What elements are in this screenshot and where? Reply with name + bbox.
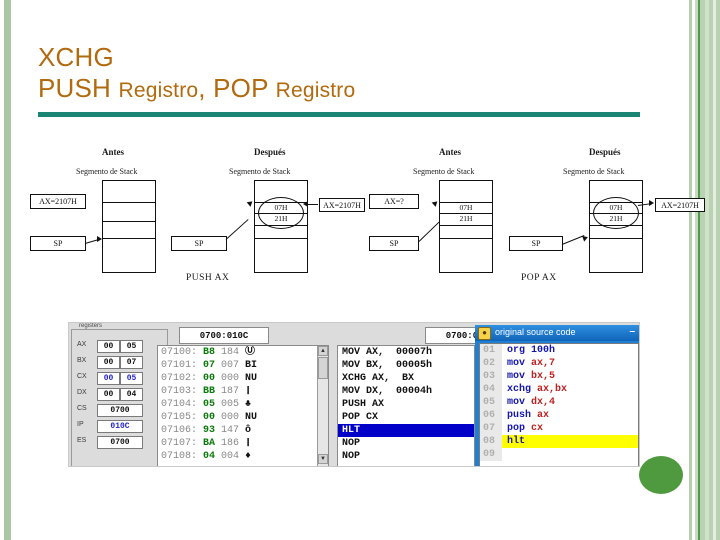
- hex-byte: 04: [203, 451, 221, 462]
- green-bullet-decoration: [639, 456, 683, 494]
- subtitle-part-registro-1: Registro: [118, 79, 198, 102]
- hex-dump-row[interactable]: 07100: B8 184 Ⓤ: [158, 346, 328, 359]
- right-stripe-10: [716, 0, 720, 540]
- source-operand: ax: [537, 410, 549, 421]
- register-row: DX0004: [69, 387, 164, 402]
- hex-char: ❙: [245, 438, 251, 449]
- register-row: AX0005: [69, 339, 164, 354]
- pop-diagram: Antes Segmento de Stack 07H 21H AX=? SP …: [361, 143, 696, 303]
- subtitle-part-push: PUSH: [38, 73, 118, 103]
- source-line-number: 02: [480, 357, 502, 370]
- source-code-row[interactable]: 06push ax: [480, 409, 638, 422]
- hex-decimal: 007: [221, 360, 245, 371]
- hex-decimal: 184: [221, 347, 245, 358]
- hex-dump-row[interactable]: 07103: BB 187 ❙: [158, 385, 328, 398]
- hex-dump-row[interactable]: 07105: 00 000 NU: [158, 411, 328, 424]
- source-code-row[interactable]: 08hlt: [480, 435, 638, 448]
- pop-before-label: Antes: [439, 147, 461, 157]
- pop-before-cell-high: 07H: [440, 203, 492, 212]
- register-value-high[interactable]: 00: [97, 340, 120, 353]
- push-after-sp-box: SP: [171, 236, 227, 251]
- pop-before-ax-box: AX=?: [369, 194, 419, 209]
- source-code-window: ● original source code – 01org 100h02mov…: [475, 325, 639, 466]
- hex-dump-panel[interactable]: 07100: B8 184 Ⓤ07101: 07 007 BI07102: 00…: [157, 345, 329, 467]
- push-after-ax-box: AX=2107H: [319, 198, 365, 212]
- source-line-code: pop cx: [502, 422, 638, 435]
- source-code-row[interactable]: 02mov ax,7: [480, 357, 638, 370]
- source-window-titlebar[interactable]: ● original source code –: [475, 325, 639, 341]
- hex-decimal: 005: [221, 399, 245, 410]
- pop-after-segment-label: Segmento de Stack: [563, 167, 624, 176]
- hex-decimal: 000: [221, 412, 245, 423]
- register-row: ES0700: [69, 435, 164, 450]
- scroll-up-icon[interactable]: ▲: [318, 346, 328, 356]
- hex-decimal: 000: [221, 373, 245, 384]
- source-mnemonic: mov: [507, 358, 525, 369]
- pop-after-ax-arrowhead: [649, 200, 654, 206]
- hex-address: 07103:: [161, 386, 203, 397]
- source-code-row[interactable]: 05mov dx,4: [480, 396, 638, 409]
- title-underline-rule: [38, 112, 640, 117]
- source-code-row[interactable]: 09: [480, 448, 638, 461]
- hex-char: ô: [245, 425, 251, 436]
- source-line-code: mov dx,4: [502, 396, 638, 409]
- hex-byte: 05: [203, 399, 221, 410]
- hex-dump-row[interactable]: 07102: 00 000 NU: [158, 372, 328, 385]
- source-operand: ax,bx: [537, 384, 567, 395]
- register-name: CX: [77, 373, 87, 380]
- stack-diagrams: Antes Segmento de Stack AX=2107H SP Desp…: [26, 143, 696, 303]
- register-value-high[interactable]: 00: [97, 356, 120, 369]
- hex-address: 07108:: [161, 451, 203, 462]
- disassembly-row[interactable]: MOV BX, 00005h: [338, 359, 474, 372]
- disassembly-row[interactable]: XCHG AX, BX: [338, 372, 474, 385]
- register-value-high[interactable]: 00: [97, 372, 120, 385]
- source-code-row[interactable]: 01org 100h: [480, 344, 638, 357]
- left-edge-decoration: [4, 0, 11, 540]
- scrollbar-thumb[interactable]: [318, 357, 328, 379]
- source-line-number: 07: [480, 422, 502, 435]
- pop-before-cell-low: 21H: [440, 214, 492, 223]
- push-diagram: Antes Segmento de Stack AX=2107H SP Desp…: [26, 143, 361, 303]
- source-line-code: mov ax,7: [502, 357, 638, 370]
- push-after-segment-label: Segmento de Stack: [229, 167, 290, 176]
- pop-before-sp-text: SP: [390, 239, 399, 248]
- source-mnemonic: org: [507, 345, 525, 356]
- source-code-body[interactable]: 01org 100h02mov ax,703mov bx,504xchg ax,…: [479, 343, 639, 467]
- hex-decimal: 004: [221, 451, 245, 462]
- subtitle-part-pop: , POP: [198, 73, 275, 103]
- push-before-label: Antes: [102, 147, 124, 157]
- hex-byte: B8: [203, 347, 221, 358]
- source-mnemonic: push: [507, 410, 531, 421]
- hex-dump-row[interactable]: 07101: 07 007 BI: [158, 359, 328, 372]
- register-name: BX: [77, 357, 86, 364]
- disassembly-row[interactable]: POP CX: [338, 411, 474, 424]
- pop-after-sp-box: SP: [509, 236, 563, 251]
- minimize-icon[interactable]: –: [629, 326, 635, 337]
- pop-before-sp-arrow-line: [419, 222, 440, 242]
- register-row: BX0007: [69, 355, 164, 370]
- source-line-code: org 100h: [502, 344, 638, 357]
- push-before-segment-label: Segmento de Stack: [76, 167, 137, 176]
- source-line-code: xchg ax,bx: [502, 383, 638, 396]
- source-line-code: mov bx,5: [502, 370, 638, 383]
- hex-dump-row[interactable]: 07104: 05 005 ♣: [158, 398, 328, 411]
- hex-scrollbar[interactable]: ▲ ▼: [317, 346, 328, 466]
- source-code-row[interactable]: 07pop cx: [480, 422, 638, 435]
- source-window-title: original source code: [495, 327, 576, 337]
- hex-char: BI: [245, 360, 257, 371]
- hex-address: 07107:: [161, 438, 203, 449]
- register-value[interactable]: 0700: [97, 404, 143, 417]
- hex-char: ♦: [245, 451, 251, 462]
- hex-decimal: 147: [221, 425, 245, 436]
- push-before-ax-box: AX=2107H: [30, 194, 86, 209]
- disassembly-row[interactable]: MOV DX, 00004h: [338, 385, 474, 398]
- source-code-row[interactable]: 04xchg ax,bx: [480, 383, 638, 396]
- source-operand: dx,4: [531, 397, 555, 408]
- bug-icon: ●: [478, 327, 491, 340]
- hex-decimal: 186: [221, 438, 245, 449]
- slide-title-block: XCHG PUSH Registro, POP Registro: [38, 42, 638, 107]
- hex-byte: BB: [203, 386, 221, 397]
- source-mnemonic: pop: [507, 423, 525, 434]
- pop-before-stack: 07H 21H: [439, 180, 493, 273]
- hex-address: 07106:: [161, 425, 203, 436]
- push-after-ax-arrowhead: [303, 201, 308, 207]
- pop-after-ax-box: AX=2107H: [655, 198, 705, 212]
- register-value-low[interactable]: 07: [120, 356, 143, 369]
- register-row: CX0005: [69, 371, 164, 386]
- register-row: CS0700: [69, 403, 164, 418]
- disassembly-row[interactable]: NOP: [338, 450, 474, 463]
- source-code-rows: 01org 100h02mov ax,703mov bx,504xchg ax,…: [480, 344, 638, 461]
- hex-dump-rows: 07100: B8 184 Ⓤ07101: 07 007 BI07102: 00…: [158, 346, 328, 463]
- pop-before-segment-label: Segmento de Stack: [413, 167, 474, 176]
- register-name: DX: [77, 389, 87, 396]
- source-operand: cx: [531, 423, 543, 434]
- source-operand: bx,5: [531, 371, 555, 382]
- hex-dump-row[interactable]: 07107: BA 186 ❙: [158, 437, 328, 450]
- registers-panel: registers AX0005BX0007CX0005DX0004CS0700…: [69, 323, 169, 462]
- source-line-code: hlt: [502, 435, 638, 448]
- pop-operation-label: POP AX: [521, 273, 557, 283]
- push-before-sp-box: SP: [30, 236, 86, 251]
- register-value[interactable]: 0700: [97, 436, 143, 449]
- source-line-number: 01: [480, 344, 502, 357]
- register-name: AX: [77, 341, 86, 348]
- disassembly-row-selected[interactable]: HLT: [338, 424, 474, 437]
- register-row: IP010C: [69, 419, 164, 434]
- hex-char: NU: [245, 412, 257, 423]
- page-title: XCHG: [38, 42, 638, 72]
- source-operand: 100h: [531, 345, 555, 356]
- pop-after-sp-arrow-line: [562, 235, 585, 245]
- source-line-number: 06: [480, 409, 502, 422]
- push-after-highlight-ellipse: [258, 197, 304, 229]
- push-after-sp-arrow-line: [226, 219, 249, 240]
- pop-after-label: Después: [589, 147, 621, 157]
- register-value[interactable]: 010C: [97, 420, 143, 433]
- hex-byte: 07: [203, 360, 221, 371]
- hex-char: NU: [245, 373, 257, 384]
- source-line-number: 05: [480, 396, 502, 409]
- source-line-number: 03: [480, 370, 502, 383]
- disassembly-panel[interactable]: MOV AX, 00007hMOV BX, 00005hXCHG AX, BXM…: [337, 345, 475, 467]
- hex-decimal: 187: [221, 386, 245, 397]
- hex-dump-row[interactable]: 07108: 04 004 ♦: [158, 450, 328, 463]
- disassembly-rows: MOV AX, 00007hMOV BX, 00005hXCHG AX, BXM…: [338, 346, 474, 463]
- page-subtitle: PUSH Registro, POP Registro: [38, 72, 638, 107]
- push-after-label: Después: [254, 147, 286, 157]
- push-operation-label: PUSH AX: [186, 273, 229, 283]
- hex-address-field[interactable]: 0700:010C: [179, 327, 269, 344]
- source-line-number: 04: [480, 383, 502, 396]
- register-value-low[interactable]: 04: [120, 388, 143, 401]
- hex-char: ❙: [245, 386, 251, 397]
- hex-address: 07100:: [161, 347, 203, 358]
- source-line-code: push ax: [502, 409, 638, 422]
- disassembly-row[interactable]: NOP: [338, 437, 474, 450]
- pop-after-highlight-ellipse: [593, 197, 639, 229]
- push-after-ax-arrow-line: [307, 204, 318, 205]
- source-code-row[interactable]: 03mov bx,5: [480, 370, 638, 383]
- pop-after-sp-arrowhead: [582, 234, 589, 241]
- register-value-low[interactable]: 05: [120, 340, 143, 353]
- source-line-code: [502, 448, 638, 461]
- disassembly-row[interactable]: MOV AX, 00007h: [338, 346, 474, 359]
- hex-dump-row[interactable]: 07106: 93 147 ô: [158, 424, 328, 437]
- source-mnemonic: xchg: [507, 384, 531, 395]
- hex-byte: 93: [203, 425, 221, 436]
- source-line-number: 09: [480, 448, 502, 461]
- emulator-screenshot: registers AX0005BX0007CX0005DX0004CS0700…: [68, 322, 640, 467]
- hex-address: 07101:: [161, 360, 203, 371]
- subtitle-part-registro-2: Registro: [276, 79, 356, 102]
- register-name: CS: [77, 405, 87, 412]
- pop-before-sp-box: SP: [369, 236, 419, 251]
- slide-canvas: XCHG PUSH Registro, POP Registro Antes S…: [0, 0, 720, 540]
- source-mnemonic: mov: [507, 397, 525, 408]
- register-value-high[interactable]: 00: [97, 388, 120, 401]
- hex-byte: 00: [203, 412, 221, 423]
- hex-char: Ⓤ: [245, 347, 255, 358]
- source-operand: ax,7: [531, 358, 555, 369]
- scroll-down-icon[interactable]: ▼: [318, 454, 328, 464]
- push-before-stack: [102, 180, 156, 273]
- source-mnemonic: mov: [507, 371, 525, 382]
- hex-address: 07104:: [161, 399, 203, 410]
- register-name: ES: [77, 437, 86, 444]
- disassembly-row[interactable]: PUSH AX: [338, 398, 474, 411]
- registers-group-label: registers: [77, 323, 104, 329]
- register-value-low[interactable]: 05: [120, 372, 143, 385]
- hex-byte: BA: [203, 438, 221, 449]
- source-mnemonic: hlt: [507, 436, 525, 447]
- hex-address: 07105:: [161, 412, 203, 423]
- hex-char: ♣: [245, 399, 251, 410]
- source-line-number: 08: [480, 435, 502, 448]
- hex-byte: 00: [203, 373, 221, 384]
- register-name: IP: [77, 421, 84, 428]
- hex-address: 07102:: [161, 373, 203, 384]
- push-before-sp-arrowhead: [97, 236, 102, 242]
